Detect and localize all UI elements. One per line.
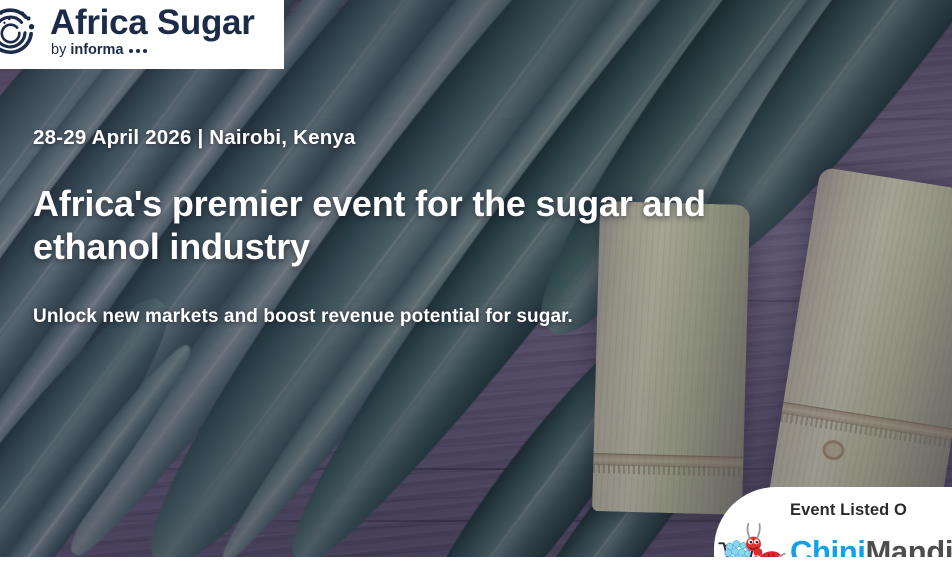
- swirl-circle-icon: [0, 4, 46, 60]
- brand-byline: by informa: [51, 43, 255, 58]
- byline-prefix: by: [51, 42, 70, 58]
- brand-wordmark: Africa Sugar by informa: [50, 5, 255, 58]
- byline-informa: informa: [70, 42, 123, 58]
- event-banner: Africa Sugar by informa 28-29 April 2026…: [0, 0, 952, 579]
- banner-subtitle: Unlock new markets and boost revenue pot…: [33, 306, 863, 328]
- bottom-white-strip: [0, 557, 952, 579]
- brand-title: Africa Sugar: [50, 5, 255, 40]
- brand-logo-plate[interactable]: Africa Sugar by informa: [0, 0, 284, 69]
- event-date-location: 28-29 April 2026 | Nairobi, Kenya: [33, 126, 863, 150]
- brand-byline-text: by informa: [51, 43, 124, 58]
- three-dots-icon: [129, 49, 147, 53]
- badge-label: Event Listed O: [790, 501, 907, 520]
- page-title: Africa's premier event for the sugar and…: [33, 182, 833, 268]
- banner-copy: 28-29 April 2026 | Nairobi, Kenya Africa…: [33, 126, 863, 328]
